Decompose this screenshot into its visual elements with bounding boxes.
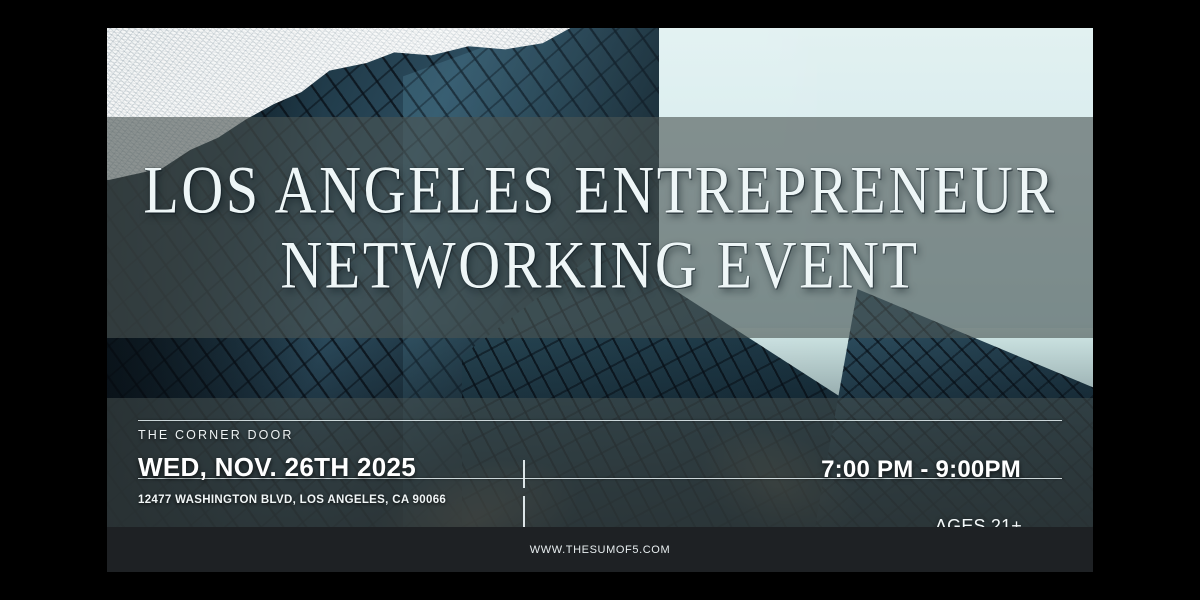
page-root: LOS ANGELES ENTREPRENEUR NETWORKING EVEN…: [0, 0, 1200, 600]
footer-website-url[interactable]: WWW.THESUMOF5.COM: [530, 544, 670, 556]
divider-vertical-upper: [523, 460, 525, 488]
event-date: WED, NOV. 26TH 2025: [138, 452, 416, 483]
footer-bar: WWW.THESUMOF5.COM: [107, 527, 1093, 572]
overlay-band-title: [107, 117, 1093, 338]
divider-rule-top: [138, 420, 1062, 421]
event-poster: LOS ANGELES ENTREPRENEUR NETWORKING EVEN…: [107, 28, 1093, 572]
event-time: 7:00 PM - 9:00PM: [821, 456, 1021, 484]
venue-name: THE CORNER DOOR: [138, 428, 294, 442]
event-address: 12477 WASHINGTON BLVD, LOS ANGELES, CA 9…: [138, 494, 446, 506]
